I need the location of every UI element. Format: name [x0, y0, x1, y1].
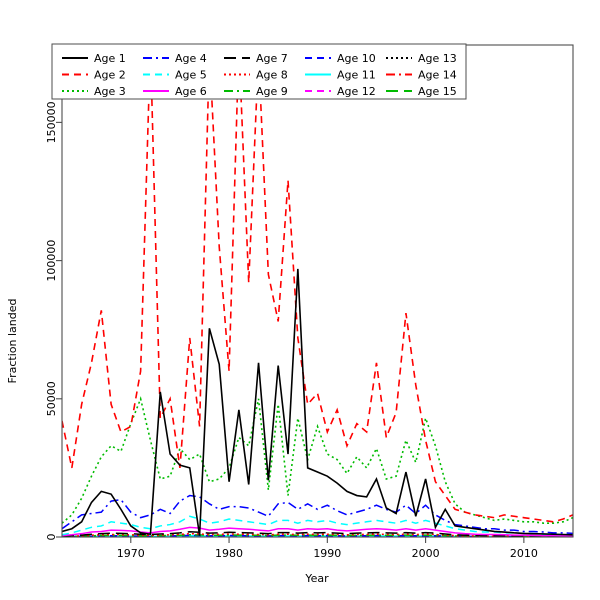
- y-tick-label: 100000: [45, 240, 58, 282]
- y-tick-label: 0: [45, 534, 58, 541]
- legend-label: Age 12: [337, 85, 376, 98]
- legend-label: Age 9: [256, 85, 288, 98]
- legend-label: Age 15: [418, 85, 457, 98]
- x-tick-label: 1980: [215, 547, 243, 560]
- y-tick-label: 150000: [45, 101, 58, 143]
- legend-label: Age 4: [175, 52, 207, 65]
- legend-label: Age 5: [175, 69, 207, 82]
- legend-label: Age 6: [175, 85, 207, 98]
- legend-label: Age 13: [418, 52, 457, 65]
- y-tick-label: 50000: [45, 381, 58, 416]
- legend-label: Age 1: [94, 52, 126, 65]
- legend-label: Age 11: [337, 69, 376, 82]
- legend-label: Age 8: [256, 69, 288, 82]
- chart-root: 05000010000015000019701980199020002010 A…: [0, 0, 600, 600]
- x-tick-label: 2000: [412, 547, 440, 560]
- y-axis-title: Fraction landed: [6, 299, 19, 384]
- line-chart: 05000010000015000019701980199020002010 A…: [0, 0, 600, 600]
- legend-label: Age 14: [418, 69, 457, 82]
- x-tick-label: 1990: [313, 547, 341, 560]
- legend-label: Age 7: [256, 52, 288, 65]
- x-tick-label: 2010: [510, 547, 538, 560]
- x-tick-label: 1970: [117, 547, 145, 560]
- legend-label: Age 10: [337, 52, 376, 65]
- legend-label: Age 3: [94, 85, 126, 98]
- legend-label: Age 2: [94, 69, 126, 82]
- x-axis-title: Year: [304, 572, 329, 585]
- chart-legend: Age 1Age 2Age 3Age 4Age 5Age 6Age 7Age 8…: [52, 44, 466, 99]
